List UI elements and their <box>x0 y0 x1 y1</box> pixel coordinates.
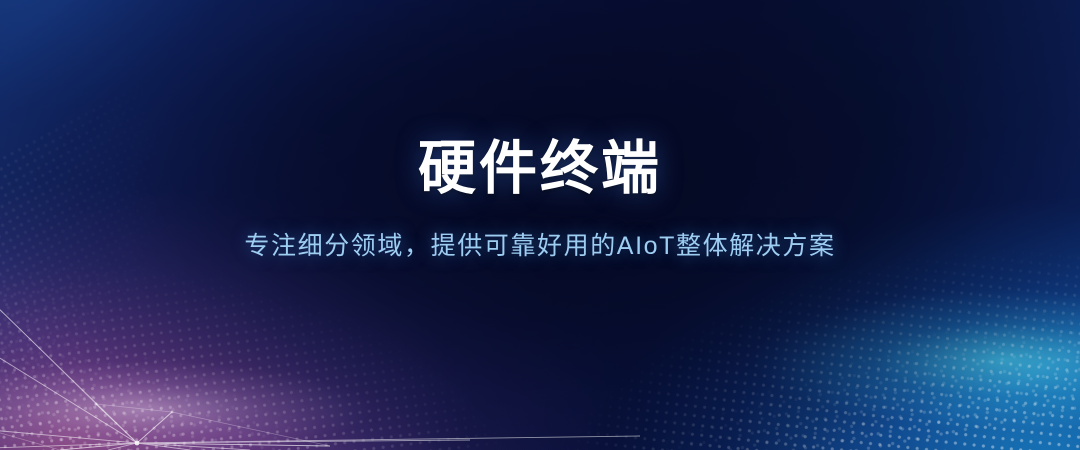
network-node <box>95 403 98 406</box>
network-lines <box>0 300 640 450</box>
page-title: 硬件终端 <box>0 138 1080 201</box>
page-subtitle: 专注细分领域，提供可靠好用的AIoT整体解决方案 <box>0 230 1080 264</box>
hero-banner: 硬件终端 专注细分领域，提供可靠好用的AIoT整体解决方案 <box>0 0 1080 450</box>
network-polygons <box>0 300 330 450</box>
network-node <box>171 411 174 414</box>
network-burst-node <box>135 441 140 446</box>
hero-text-block: 硬件终端 专注细分领域，提供可靠好用的AIoT整体解决方案 <box>0 138 1080 263</box>
